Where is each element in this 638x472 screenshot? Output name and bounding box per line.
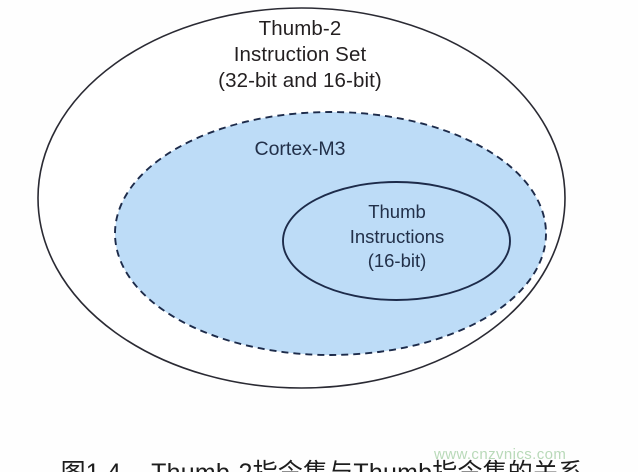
venn-diagram <box>0 0 638 410</box>
figure-caption-number: 图1.4 <box>61 459 122 472</box>
inner-ellipse-thumb-instructions <box>283 182 510 300</box>
figure-caption-text: Thumb-2指令集与Thumb指令集的关系 <box>151 459 583 472</box>
figure-caption: 图1.4Thumb-2指令集与Thumb指令集的关系 <box>32 424 583 472</box>
figure-container: Thumb-2 Instruction Set (32-bit and 16-b… <box>0 0 638 472</box>
